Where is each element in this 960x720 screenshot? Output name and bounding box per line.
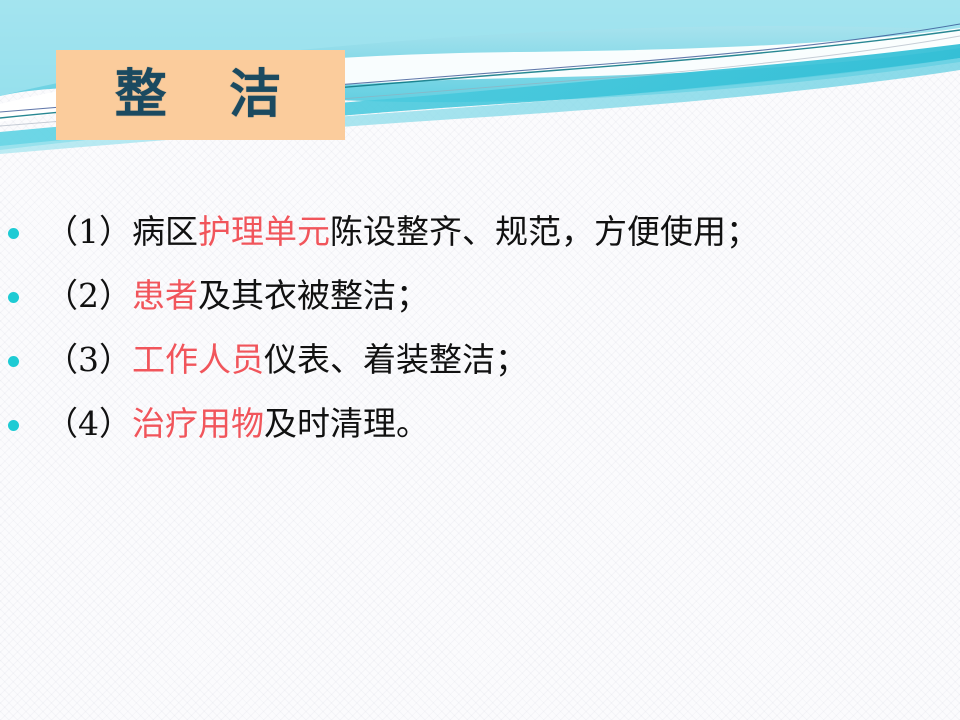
list-item-text: （1）病区护理单元陈设整齐、规范，方便使用； bbox=[45, 210, 960, 254]
text-segment-highlight: 治疗用物 bbox=[132, 404, 264, 443]
slide-title-box: 整 洁 bbox=[56, 50, 345, 140]
list-item-text: （2）患者及其衣被整洁； bbox=[45, 274, 960, 318]
text-segment: （4） bbox=[45, 404, 132, 443]
page-title: 整 洁 bbox=[115, 69, 287, 121]
text-segment: 仪表、着装整洁； bbox=[264, 340, 528, 379]
text-segment: （2） bbox=[45, 276, 132, 315]
bullet-dot-icon bbox=[8, 420, 19, 431]
list-item: （4）治疗用物及时清理。 bbox=[0, 402, 960, 466]
list-item: （3）工作人员仪表、着装整洁； bbox=[0, 338, 960, 402]
bullet-list: （1）病区护理单元陈设整齐、规范，方便使用； （2）患者及其衣被整洁； （3）工… bbox=[0, 210, 960, 466]
list-item-text: （4）治疗用物及时清理。 bbox=[45, 402, 960, 446]
text-segment: 及时清理。 bbox=[264, 404, 429, 443]
list-item: （2）患者及其衣被整洁； bbox=[0, 274, 960, 338]
list-item: （1）病区护理单元陈设整齐、规范，方便使用； bbox=[0, 210, 960, 274]
text-segment: 陈设整齐、规范，方便使用； bbox=[330, 212, 759, 251]
text-segment: 及其衣被整洁； bbox=[198, 276, 429, 315]
text-segment: （1）病区 bbox=[45, 212, 198, 251]
presentation-slide: 整 洁 （1）病区护理单元陈设整齐、规范，方便使用； （2）患者及其衣被整洁； … bbox=[0, 0, 960, 720]
text-segment: （3） bbox=[45, 340, 132, 379]
bullet-dot-icon bbox=[8, 356, 19, 367]
bullet-dot-icon bbox=[8, 228, 19, 239]
text-segment-highlight: 患者 bbox=[132, 276, 198, 315]
bullet-dot-icon bbox=[8, 292, 19, 303]
text-segment-highlight: 护理单元 bbox=[198, 212, 330, 251]
text-segment-highlight: 工作人员 bbox=[132, 340, 264, 379]
list-item-text: （3）工作人员仪表、着装整洁； bbox=[45, 338, 960, 382]
